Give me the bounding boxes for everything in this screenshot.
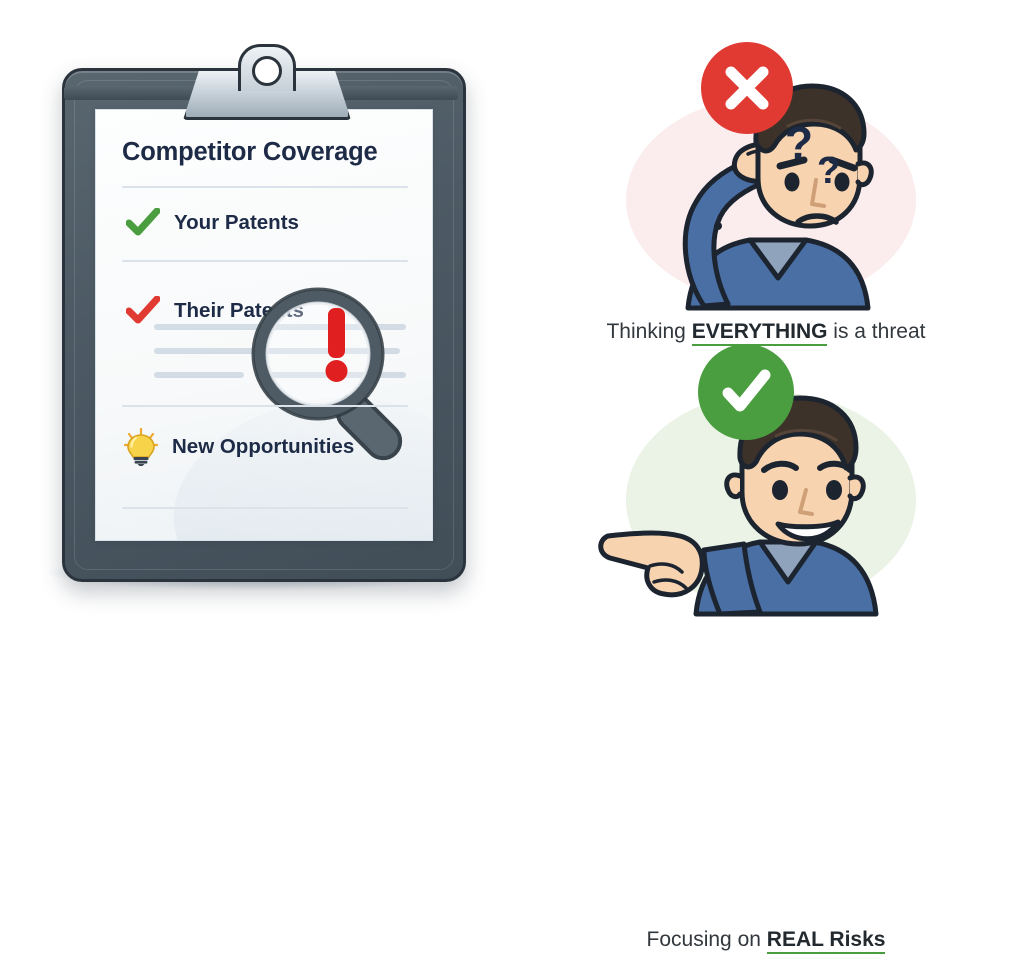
caption-emphasis: REAL Risks <box>767 928 886 954</box>
checklist-item-your-patents[interactable]: Your Patents <box>126 208 299 238</box>
clipboard: Competitor Coverage Your Patents <box>62 68 466 582</box>
caption-right: Focusing on REAL Risks <box>540 928 992 952</box>
document-content: Competitor Coverage Your Patents <box>96 110 432 540</box>
document-title: Competitor Coverage <box>122 138 412 167</box>
green-check-circle-icon <box>698 344 794 440</box>
divider-rule <box>122 507 408 509</box>
caption-before: Focusing on <box>647 928 767 951</box>
clipboard-paper: Competitor Coverage Your Patents <box>95 109 433 541</box>
question-mark-small: ? <box>817 152 840 190</box>
illustration-canvas: Competitor Coverage Your Patents <box>0 0 1024 683</box>
checklist-label: New Opportunities <box>172 435 354 459</box>
divider-rule <box>122 405 408 407</box>
lightbulb-icon <box>124 428 158 466</box>
panel-wrong: ? ? Thinking EVERYTHING is a threat <box>540 34 992 334</box>
checklist-item-new-opportunities[interactable]: New Opportunities <box>124 428 354 466</box>
clipboard-clip-hole <box>252 56 282 86</box>
panel-right: Focusing on REAL Risks <box>540 340 992 640</box>
exclamation-mark-icon <box>326 308 348 382</box>
question-mark-large: ? <box>785 120 813 166</box>
checklist-label: Your Patents <box>174 211 299 235</box>
red-x-circle-icon <box>701 42 793 134</box>
divider-rule <box>122 186 408 188</box>
placeholder-text-line <box>154 372 244 378</box>
question-marks-icon: ? ? <box>785 120 875 206</box>
green-check-icon <box>126 208 160 238</box>
divider-rule <box>122 260 408 262</box>
red-check-icon <box>126 296 160 326</box>
